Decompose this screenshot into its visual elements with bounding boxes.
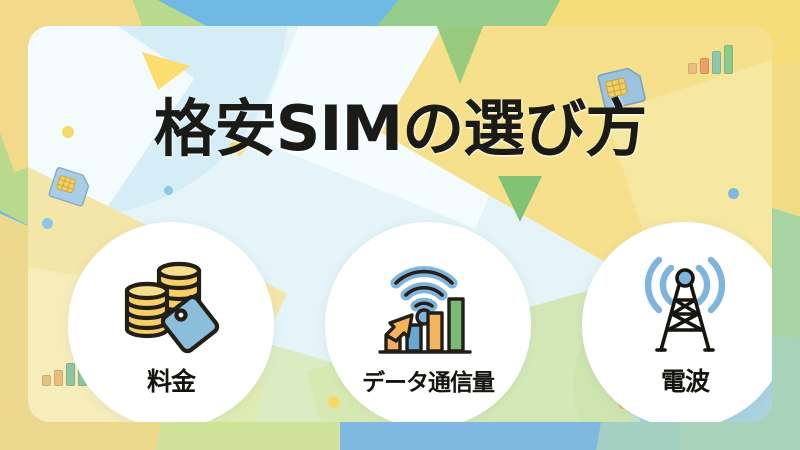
dot-blue-midleft (164, 186, 173, 195)
feature-card-data[interactable]: データ通信量 (325, 222, 531, 422)
dot-blue-left (42, 218, 53, 229)
coins-price-tag-icon (115, 252, 227, 358)
feature-row: 料金 (68, 222, 772, 422)
feature-card-price[interactable]: 料金 (68, 222, 274, 422)
feature-label-data: データ通信量 (362, 363, 494, 397)
page-title: 格安SIMの選び方 (28, 98, 772, 160)
feature-card-signal[interactable]: 電波 (582, 222, 772, 422)
radio-tower-icon (629, 252, 741, 358)
card-triangle-green-mid (498, 176, 542, 222)
sim-card-icon-left (48, 166, 96, 208)
content-card: 格安SIMの選び方 (28, 26, 772, 422)
banner-canvas: 格安SIMの選び方 (0, 0, 800, 450)
triangle-yellow-topleft (138, 46, 194, 92)
wifi-bar-chart-icon (372, 253, 484, 359)
feature-label-signal: 電波 (661, 362, 709, 398)
card-triangle-green-top (420, 26, 500, 84)
dot-blue-right (728, 188, 739, 199)
signal-bars-topright (688, 44, 733, 74)
feature-label-price: 料金 (147, 362, 195, 398)
